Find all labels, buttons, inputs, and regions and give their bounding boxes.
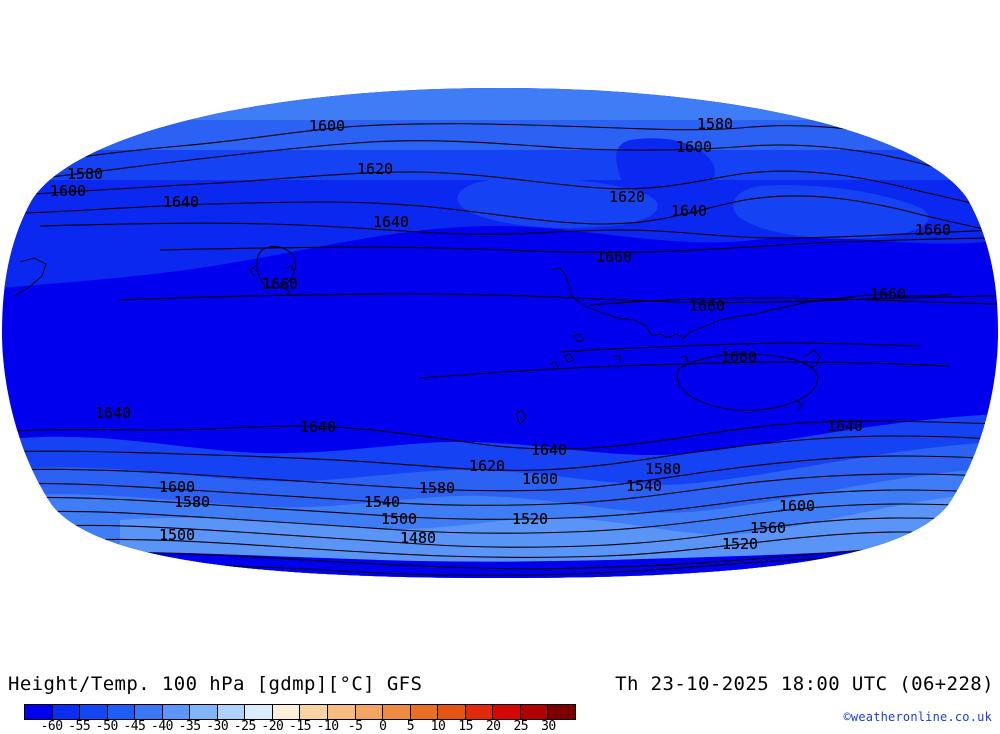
temperature-fill-layer [0, 80, 1000, 600]
contour-label-1660-12: 1660 [262, 275, 298, 293]
contour-label-1640-6: 1640 [163, 193, 199, 211]
contour-label-1500-32: 1500 [159, 526, 195, 544]
contour-label-1540-23: 1540 [626, 477, 662, 495]
colorbar-swatch-1[interactable] [53, 705, 81, 719]
colorbar-label--35: -35 [179, 719, 201, 734]
contour-label-1640-19: 1640 [827, 417, 863, 435]
contour-label-1660-14: 1660 [870, 285, 906, 303]
colorbar-swatch-4[interactable] [135, 705, 163, 719]
contour-label-1600-30: 1600 [779, 497, 815, 515]
colorbar-swatch-7[interactable] [218, 705, 246, 719]
contour-label-1660-11: 1660 [596, 248, 632, 266]
colorbar-label-25: 25 [513, 719, 528, 734]
contour-label-1640-17: 1640 [300, 418, 336, 436]
colorbar-swatch-3[interactable] [108, 705, 136, 719]
contour-label-1580-26: 1580 [174, 493, 210, 511]
colorbar-swatch-0[interactable] [25, 705, 53, 719]
contour-label-1580-22: 1580 [645, 460, 681, 478]
contour-label-1480-33: 1480 [400, 529, 436, 547]
map-area[interactable]: 1600160015801580158015801600160016201620… [0, 0, 1000, 660]
contour-label-1620-7: 1620 [609, 188, 645, 206]
colorbar-swatch-18[interactable] [521, 705, 549, 719]
colorbar-swatch-2[interactable] [80, 705, 108, 719]
contour-label-1660-13: 1660 [689, 297, 725, 315]
contour-label-1600-0: 1600 [309, 117, 345, 135]
contour-label-1580-2: 1580 [67, 165, 103, 183]
contour-label-1600-5: 1600 [50, 182, 86, 200]
colorbar-label--50: -50 [96, 719, 118, 734]
colorbar-label--30: -30 [206, 719, 228, 734]
colorbar-label-20: 20 [486, 719, 501, 734]
colorbar-swatch-14[interactable] [411, 705, 439, 719]
contour-label-1660-15: 1660 [721, 348, 757, 366]
colorbar-swatch-10[interactable] [300, 705, 328, 719]
contour-label-1580-1: 1580 [697, 115, 733, 133]
colorbar-swatch-6[interactable] [190, 705, 218, 719]
colorbar-swatch-12[interactable] [356, 705, 384, 719]
contour-label-1540-27: 1540 [364, 493, 400, 511]
colorbar-label--20: -20 [261, 719, 283, 734]
weather-map-page: 1600160015801580158015801600160016201620… [0, 0, 1000, 733]
contour-label-1640-9: 1640 [373, 213, 409, 231]
colorbar-swatch-13[interactable] [383, 705, 411, 719]
contour-label-1500-28: 1500 [381, 510, 417, 528]
footer: Height/Temp. 100 hPa [gdmp][°C] GFS Th 2… [0, 660, 1000, 733]
chart-title: Height/Temp. 100 hPa [gdmp][°C] GFS [8, 673, 422, 695]
contour-label-1600-3: 1600 [676, 138, 712, 156]
colorbar-label-15: 15 [458, 719, 473, 734]
contour-label-1600-21: 1600 [522, 470, 558, 488]
colorbar-label-30: 30 [541, 719, 556, 734]
colorbar-swatch-17[interactable] [493, 705, 521, 719]
contour-label-1640-16: 1640 [95, 404, 131, 422]
contour-label-1640-8: 1640 [671, 202, 707, 220]
contour-label-1660-10: 1660 [915, 221, 951, 239]
colorbar-swatch-9[interactable] [273, 705, 301, 719]
global-weather-map[interactable]: 1600160015801580158015801600160016201620… [0, 0, 1000, 660]
colorbar-swatch-19[interactable] [548, 705, 575, 719]
colorbar-label--10: -10 [317, 719, 339, 734]
contour-label-1620-4: 1620 [357, 160, 393, 178]
contour-label-1640-18: 1640 [531, 441, 567, 459]
contour-label-1520-34: 1520 [722, 535, 758, 553]
colorbar-swatch-16[interactable] [466, 705, 494, 719]
colorbar-swatch-8[interactable] [245, 705, 273, 719]
contour-label-1620-20: 1620 [469, 457, 505, 475]
colorbar-label--40: -40 [151, 719, 173, 734]
copyright-credit[interactable]: ©weatheronline.co.uk [844, 710, 993, 724]
colorbar-label--55: -55 [68, 719, 90, 734]
valid-time-label: Th 23-10-2025 18:00 UTC (06+228) [615, 673, 994, 695]
temperature-colorbar[interactable]: -60-55-50-45-40-35-30-25-20-15-10-505101… [24, 704, 576, 731]
contour-label-1580-25: 1580 [419, 479, 455, 497]
colorbar-label--15: -15 [289, 719, 311, 734]
colorbar-swatch-5[interactable] [163, 705, 191, 719]
colorbar-label--5: -5 [348, 719, 363, 734]
colorbar-swatch-15[interactable] [438, 705, 466, 719]
colorbar-label-10: 10 [431, 719, 446, 734]
colorbar-label--45: -45 [123, 719, 145, 734]
contour-label-1520-29: 1520 [512, 510, 548, 528]
colorbar-label-5: 5 [407, 719, 414, 734]
colorbar-swatches[interactable] [24, 704, 576, 720]
colorbar-swatch-11[interactable] [328, 705, 356, 719]
colorbar-label--25: -25 [234, 719, 256, 734]
colorbar-label--60: -60 [41, 719, 63, 734]
colorbar-label-0: 0 [379, 719, 386, 734]
colorbar-tick-labels: -60-55-50-45-40-35-30-25-20-15-10-505101… [24, 719, 576, 733]
